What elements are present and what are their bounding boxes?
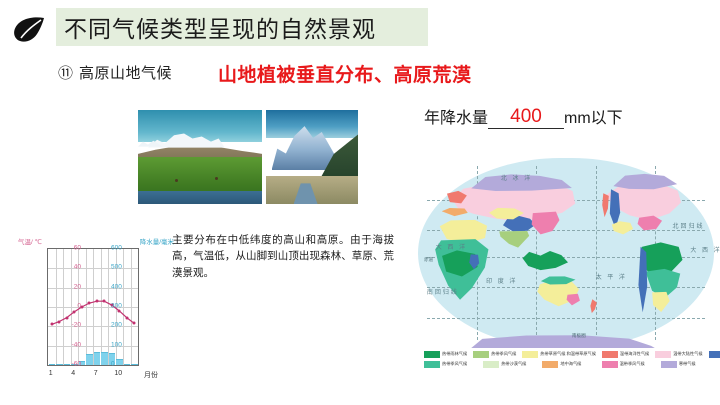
chart-left-ytick: -60 [55,361,81,368]
legend-label: 温带季风气候 [620,362,645,367]
legend-swatch [522,351,538,358]
legend-item: 热带雨林气候 [424,351,467,358]
chart-left-ytick: -40 [55,341,81,348]
chart-xaxis-label: 月份 [144,370,158,380]
snow-mountain-valley-photo [266,110,358,204]
map-label: 赤道 [424,257,433,263]
slide-header: 不同气候类型呈现的自然景观 [0,8,430,48]
chart-temperature-point [95,300,98,303]
chart-temperature-point [118,309,121,312]
photo-yak [175,179,178,182]
legend-row: 热带雨林气候热带季风气候热带草原气候 和温带草原气候温带海洋性气候温带大陆性气候… [424,351,714,358]
legend-row: 热带季风气候热带沙漠气候地中海气候温带季风气候寒带气候 [424,361,714,368]
legend-label: 热带草原气候 和温带草原气候 [540,352,596,357]
map-label: 大 西 洋 [690,245,720,254]
legend-item: 热带季风气候 [473,351,516,358]
subtitle-row: ⑪ 高原山地气候 [58,62,172,83]
chart-xtick: 4 [71,370,75,377]
legend-label: 热带季风气候 [491,352,516,357]
chart-right-ytick: 100 [111,341,137,348]
legend-label: 温带大陆性气候 [673,352,702,357]
precipitation-value[interactable]: 400 [488,106,564,129]
chart-right-ytick: 600 [111,245,137,252]
climate-type-label: 高原山地气候 [79,62,172,83]
chart-temperature-point [125,316,128,319]
page-title: 不同气候类型呈现的自然景观 [56,10,376,44]
legend-swatch [655,351,671,358]
map-legend: 热带雨林气候热带季风气候热带草原气候 和温带草原气候温带海洋性气候温带大陆性气候… [424,351,714,371]
slide-root: 不同气候类型呈现的自然景观 ⑪ 高原山地气候 山地植被垂直分布、高原荒漠 年降水… [0,0,720,405]
legend-swatch [602,351,618,358]
legend-swatch [661,361,677,368]
precipitation-suffix: mm以下 [564,104,623,128]
map-label: 南回归线 [427,287,459,296]
description-text: 主要分布在中低纬度的高山和高原。由于海拔高，气温低，从山脚到山顶出现森林、草原、… [172,232,394,281]
photo-sky [266,110,358,138]
vegetation-heading: 山地植被垂直分布、高原荒漠 [218,60,472,87]
map-label: 印 度 洋 [486,276,517,285]
chart-right-ytick: 0 [111,361,137,368]
chart-right-ytick: 500 [111,264,137,271]
legend-swatch [424,351,440,358]
title-band: 不同气候类型呈现的自然景观 [56,8,428,46]
chart-right-axis-title: 降水量/毫米 [140,236,174,246]
chart-xtick: 1 [49,370,53,377]
legend-swatch [473,351,489,358]
chart-temperature-point [103,300,106,303]
legend-swatch [602,361,618,368]
legend-label: 温带海洋性气候 [620,352,649,357]
legend-swatch [709,351,720,358]
chart-right-ytick: 200 [111,322,137,329]
chart-temperature-point [73,310,76,313]
legend-swatch [424,361,440,368]
legend-item: 热带沙漠气候 [483,361,536,368]
legend-item: 温带季风气候 [602,361,655,368]
chart-xtick: 7 [94,370,98,377]
chart-xtick: 10 [114,370,122,377]
climate-chart: 气温/ ℃ 降水量/毫米 -60-40-20020406001002003004… [16,236,176,392]
legend-item: 热带季风气候 [424,361,477,368]
item-number: ⑪ [58,62,73,83]
chart-temperature-point [88,302,91,305]
legend-label: 地中海气候 [560,362,581,367]
legend-swatch [542,361,558,368]
legend-label: 寒带气候 [679,362,696,367]
legend-item: 温带海洋性气候 [602,351,649,358]
chart-temperature-point [50,323,53,326]
chart-left-ytick: 60 [55,245,81,252]
legend-item: 寒带气候 [661,361,714,368]
world-climate-types-map: 北 冰 洋大 西 洋太 平 洋印 度 洋大 西 洋北回归线南回归线赤道南极圈 [418,158,714,348]
leaf-icon [12,16,46,42]
chart-left-ytick: 20 [55,283,81,290]
precipitation-label: 年降水量 [424,104,488,128]
legend-swatch [483,361,499,368]
map-label: 北回归线 [673,221,705,230]
map-latitude-line [427,318,705,319]
legend-label: 热带沙漠气候 [501,362,526,367]
chart-temperature-point [65,316,68,319]
map-label: 北 冰 洋 [501,173,532,182]
chart-left-ytick: -20 [55,322,81,329]
photo-river [138,191,262,204]
chart-left-axis-title: 气温/ ℃ [18,236,42,246]
map-label: 南极圈 [572,333,586,339]
photo-yak [215,177,218,180]
legend-item: 高原山地气候 [709,351,720,358]
legend-label: 热带季风气候 [442,362,467,367]
legend-item: 地中海气候 [542,361,595,368]
chart-left-ytick: 0 [55,303,81,310]
map-label: 太 平 洋 [596,272,627,281]
legend-item: 热带草原气候 和温带草原气候 [522,351,596,358]
chart-left-ytick: 40 [55,264,81,271]
chart-right-ytick: 400 [111,283,137,290]
map-label: 大 西 洋 [436,242,467,251]
plateau-grassland-snow-mountain-photo [138,110,262,204]
chart-right-ytick: 300 [111,303,137,310]
precipitation-row: 年降水量 400 mm以下 [424,104,623,130]
legend-label: 热带雨林气候 [442,352,467,357]
legend-item: 温带大陆性气候 [655,351,702,358]
map-meridian [596,166,597,341]
